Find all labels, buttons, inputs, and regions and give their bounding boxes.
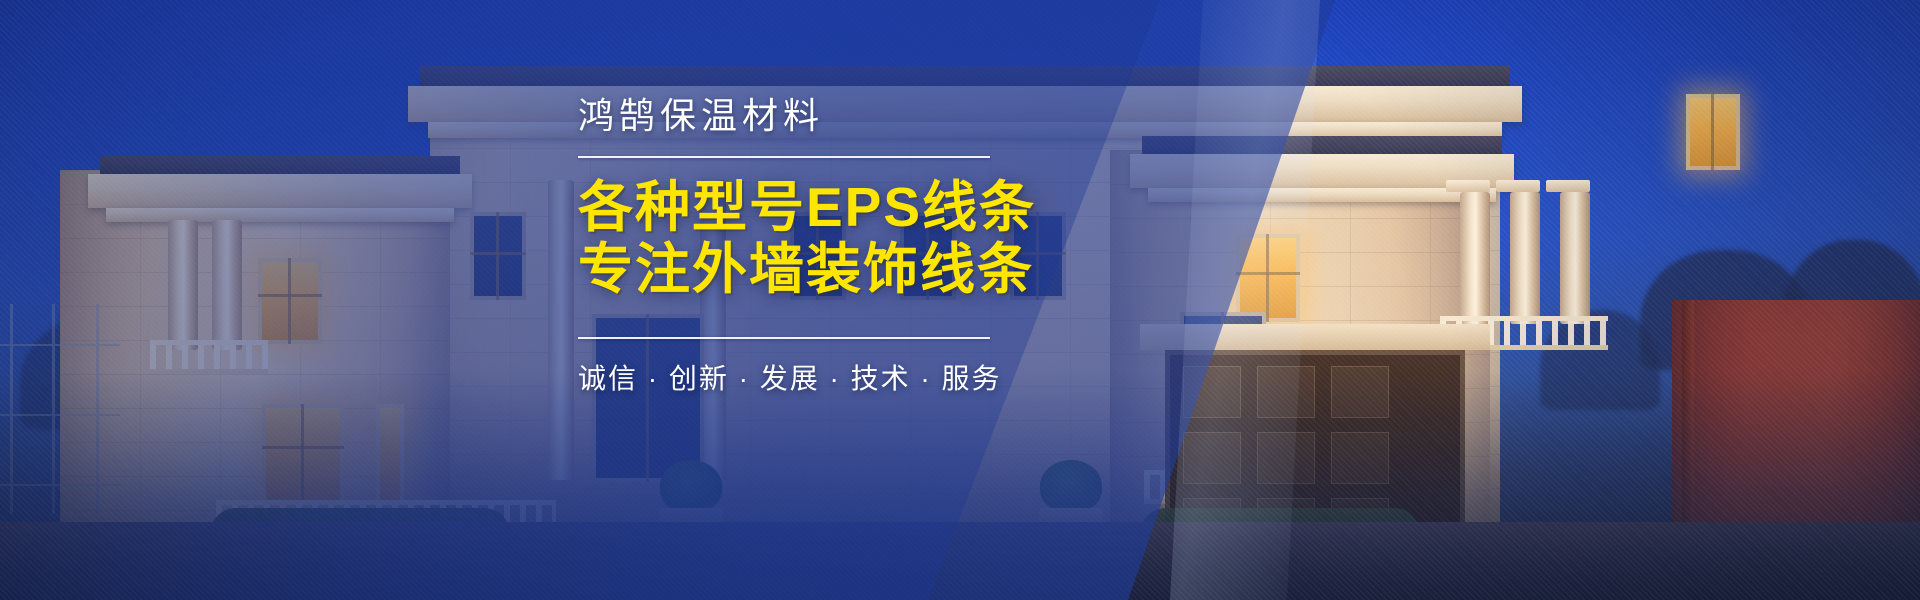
villa-column — [1560, 192, 1590, 324]
villa-column — [1460, 192, 1490, 324]
hero-banner: ︶ ︶ ︶ — [0, 0, 1920, 600]
window-mullion — [1711, 94, 1714, 170]
villa-column-capital — [1546, 180, 1590, 192]
brand-name: 鸿鹄保温材料 — [578, 96, 1278, 136]
bird-icon: ︶ — [1800, 276, 1813, 295]
tagline: 诚信 · 创新 · 发展 · 技术 · 服务 — [578, 357, 1278, 397]
headline: 各种型号EPS线条 专注外墙装饰线条 — [578, 176, 1278, 301]
banner-content: 鸿鹄保温材料 各种型号EPS线条 专注外墙装饰线条 诚信 · 创新 · 发展 ·… — [578, 96, 1278, 397]
headline-line-1: 各种型号EPS线条 — [578, 176, 1278, 239]
tagline-block: 诚信 · 创新 · 发展 · 技术 · 服务 — [578, 337, 1278, 397]
villa-column-capital — [1446, 180, 1490, 192]
lit-window — [1686, 94, 1740, 170]
divider-bottom — [578, 337, 990, 339]
villa-column — [1510, 192, 1540, 324]
divider-top — [578, 156, 990, 158]
villa-column-capital — [1496, 180, 1540, 192]
headline-line-2: 专注外墙装饰线条 — [578, 238, 1278, 301]
